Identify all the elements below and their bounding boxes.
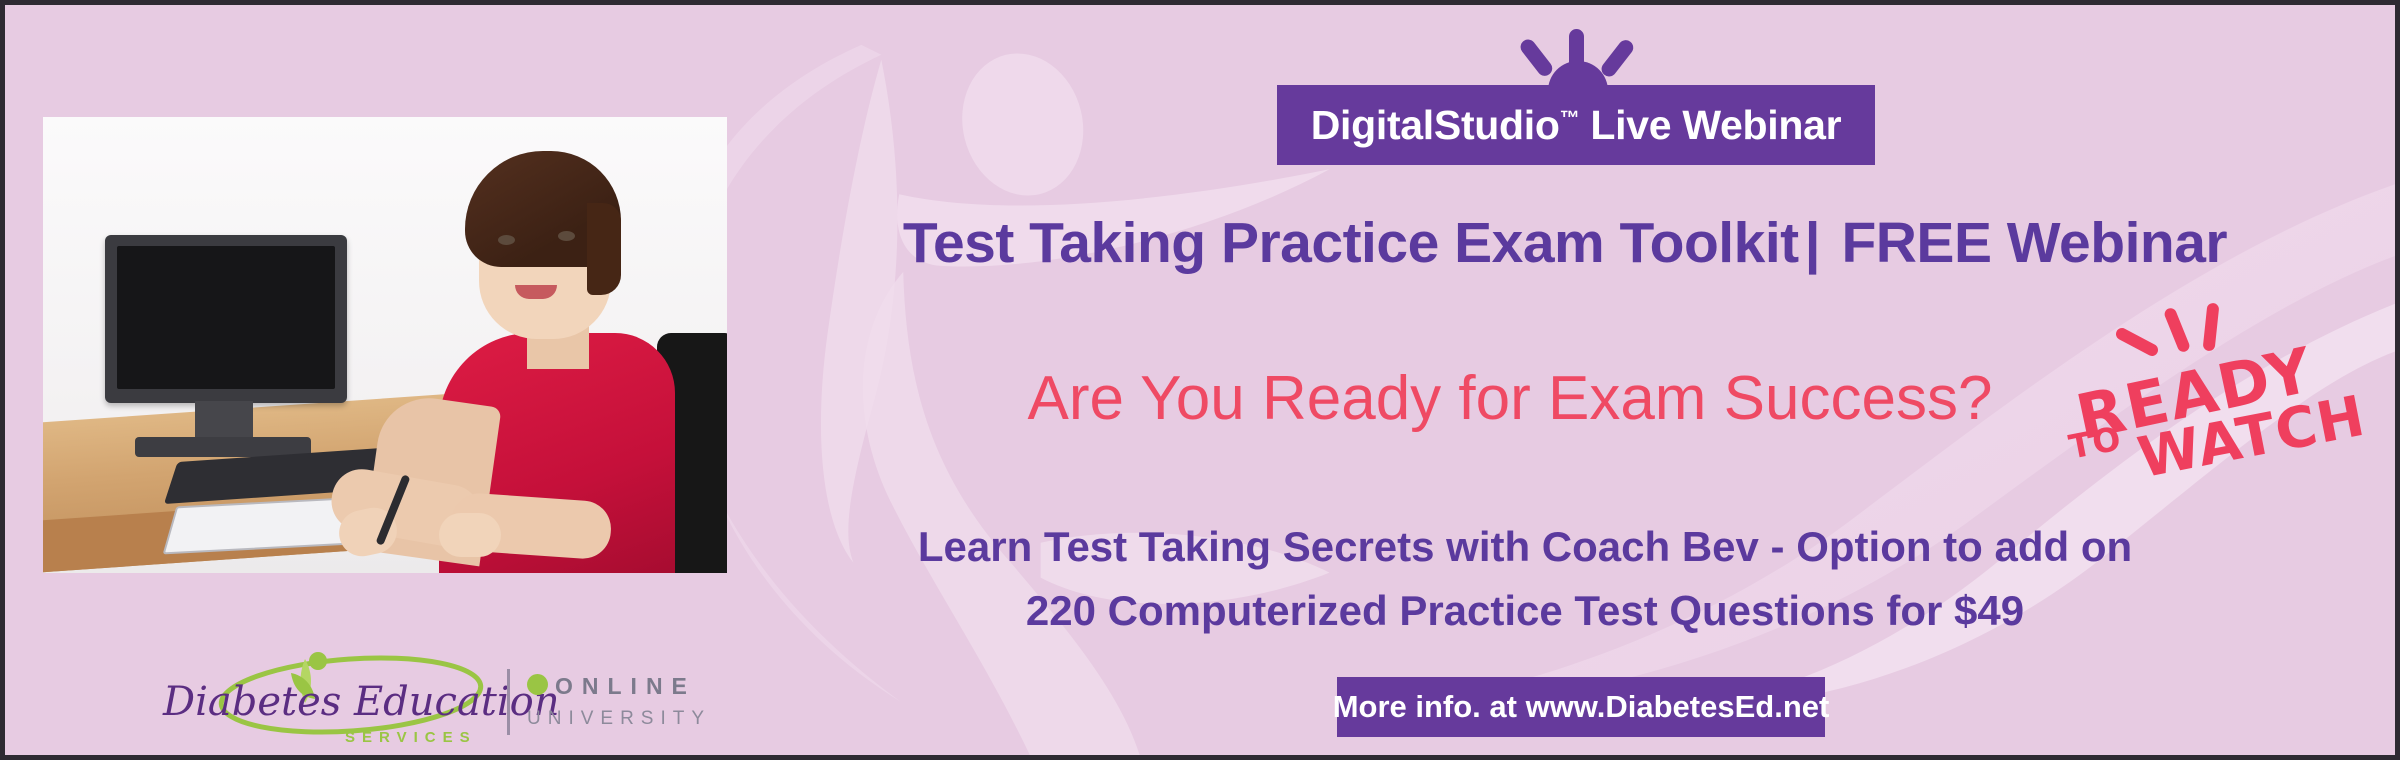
body-line-1: Learn Test Taking Secrets with Coach Bev… (755, 523, 2295, 571)
headline-divider: | (1799, 211, 1826, 275)
logo-online-dot-icon (527, 674, 548, 695)
badge-suffix: Live Webinar (1579, 102, 1841, 148)
woman-at-desk-photo (43, 117, 727, 573)
page-title: Test Taking Practice Exam Toolkit| FREE … (765, 210, 2365, 276)
more-info-button[interactable]: More info. at www.DiabetesEd.net (1337, 677, 1825, 737)
ready-to-watch-stamp: READY TO WATCH (2065, 301, 2385, 491)
trademark-symbol: ™ (1560, 107, 1580, 129)
logo-divider (507, 669, 510, 735)
logo-name: Diabetes Education (163, 679, 560, 725)
stamp-line-to: TO (2066, 418, 2125, 466)
badge-label: DigitalStudio™ Live Webinar (1311, 102, 1842, 149)
headline-part2: FREE Webinar (1841, 211, 2227, 275)
digitalstudio-badge: DigitalStudio™ Live Webinar (1277, 85, 1875, 165)
logo-online: ONLINE (555, 673, 696, 700)
photo-hair-side (587, 203, 621, 295)
photo-hand-right (439, 513, 501, 557)
sunrise-burst-icon (1513, 19, 1643, 91)
photo-monitor-stand (195, 401, 253, 441)
badge-brand: DigitalStudio (1311, 102, 1560, 148)
photo-eye-left (498, 235, 515, 245)
photo-monitor (105, 235, 347, 403)
tagline-question: Are You Ready for Exam Success? (745, 363, 2275, 434)
more-info-label: More info. at www.DiabetesEd.net (1333, 689, 1830, 725)
logo-services: SERVICES (345, 729, 477, 746)
body-line-2: 220 Computerized Practice Test Questions… (755, 587, 2295, 635)
diabetes-education-services-logo[interactable]: Diabetes Education SERVICES ONLINE UNIVE… (155, 645, 675, 755)
logo-university: UNIVERSITY (527, 708, 711, 730)
headline-part1: Test Taking Practice Exam Toolkit (903, 211, 1799, 275)
webinar-promo-banner: DigitalStudio™ Live Webinar Test Taking … (0, 0, 2400, 760)
photo-eye-right (558, 231, 575, 241)
photo-monitor-screen (117, 246, 335, 389)
